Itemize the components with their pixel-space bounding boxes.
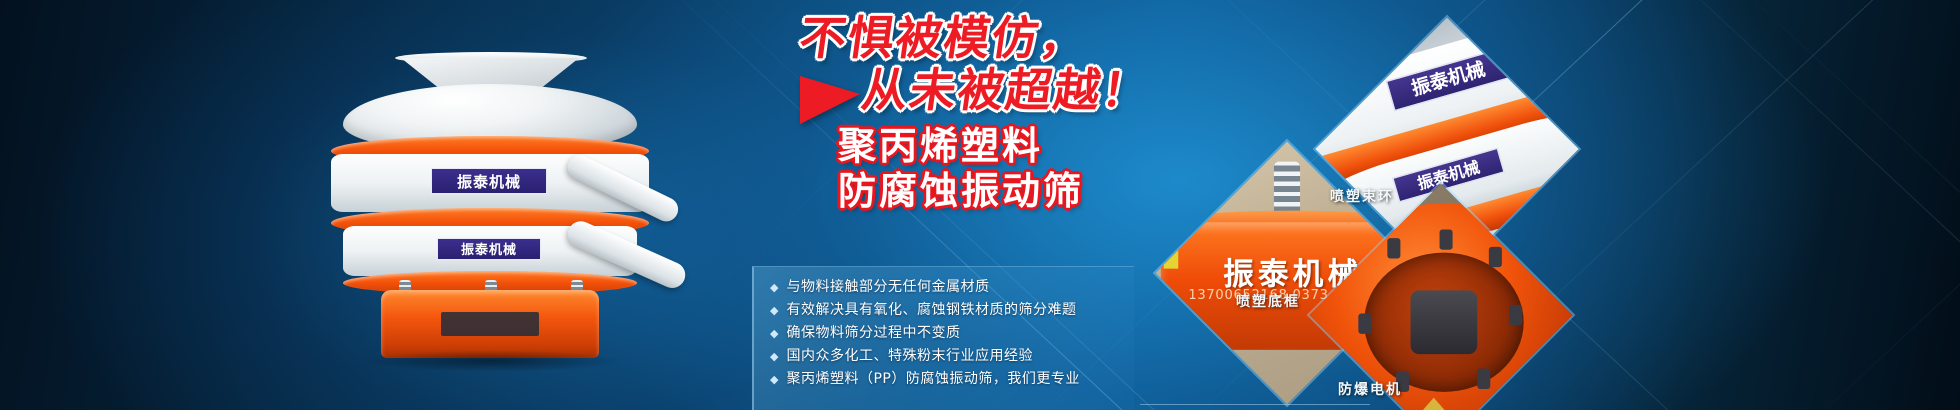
diamond-bullet-icon: ◆ [770, 328, 778, 339]
feature-text: 国内众多化工、特殊粉末行业应用经验 [786, 348, 1033, 364]
thumbnail-caption-sprayed-ring: 喷塑束环 [1330, 186, 1394, 206]
feature-item: ◆ 国内众多化工、特殊粉末行业应用经验 [770, 348, 1134, 364]
feature-item: ◆ 聚丙烯塑料（PP）防腐蚀振动筛，我们更专业 [770, 371, 1134, 387]
feature-list-panel: ◆ 与物料接触部分无任何金属材质 ◆ 有效解决具有氧化、腐蚀钢铁材质的筛分难题 … [752, 266, 1134, 410]
feature-item: ◆ 确保物料筛分过程中不变质 [770, 325, 1134, 341]
diamond-bullet-icon: ◆ [770, 351, 778, 362]
feature-text: 有效解决具有氧化、腐蚀钢铁材质的筛分难题 [786, 302, 1076, 318]
subheadline-block: 聚丙烯塑料 防腐蚀振动筛 [838, 124, 1084, 214]
main-product-image: 振泰机械 振泰机械 [325, 58, 655, 358]
feature-text: 确保物料筛分过程中不变质 [786, 325, 960, 341]
thumbnail-caption-sprayed-base: 喷塑底框 [1236, 291, 1300, 311]
brand-plate-bottom: 振泰机械 [437, 238, 541, 260]
promo-banner: 振泰机械 振泰机械 不惧被模仿， 从未被超越！ 聚丙烯塑料 防腐蚀振动筛 ◆ 与… [0, 0, 1960, 410]
subheadline-line-1: 聚丙烯塑料 [838, 124, 1084, 169]
feature-text: 与物料接触部分无任何金属材质 [786, 279, 989, 295]
feature-item: ◆ 与物料接触部分无任何金属材质 [770, 279, 1134, 295]
bottom-divider [1140, 404, 1370, 405]
diamond-bullet-icon: ◆ [770, 282, 778, 293]
diamond-bullet-icon: ◆ [770, 305, 778, 316]
subheadline-line-2: 防腐蚀振动筛 [838, 169, 1084, 214]
brand-plate-top: 振泰机械 [431, 168, 547, 194]
diamond-bullet-icon: ◆ [770, 374, 778, 385]
feature-item: ◆ 有效解决具有氧化、腐蚀钢铁材质的筛分难题 [770, 302, 1134, 318]
thumbnail-caption-motor: 防爆电机 [1338, 379, 1402, 399]
ground-shadow [361, 350, 623, 372]
feature-text: 聚丙烯塑料（PP）防腐蚀振动筛，我们更专业 [786, 371, 1079, 387]
motor-base [381, 290, 599, 358]
